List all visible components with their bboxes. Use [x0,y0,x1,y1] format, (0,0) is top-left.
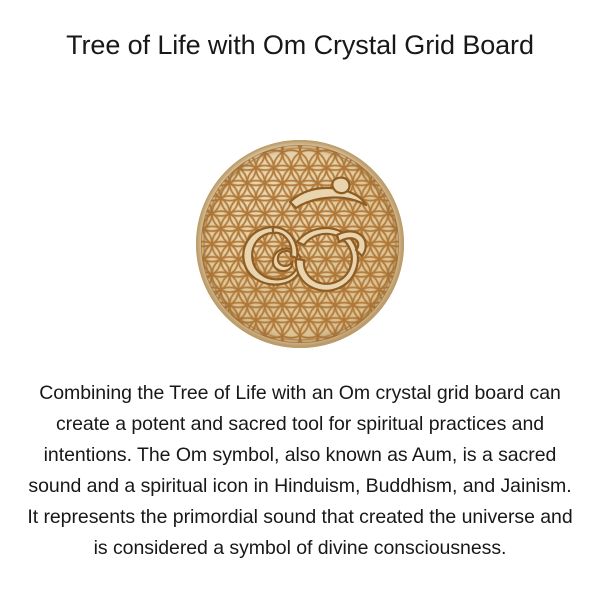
product-image-area [0,120,600,368]
crystal-grid-board-image[interactable] [194,138,406,350]
product-page: Tree of Life with Om Crystal Grid Board [0,0,600,600]
page-title: Tree of Life with Om Crystal Grid Board [30,26,570,64]
product-description: Combining the Tree of Life with an Om cr… [24,378,576,564]
wooden-disc-graphic [194,138,406,350]
